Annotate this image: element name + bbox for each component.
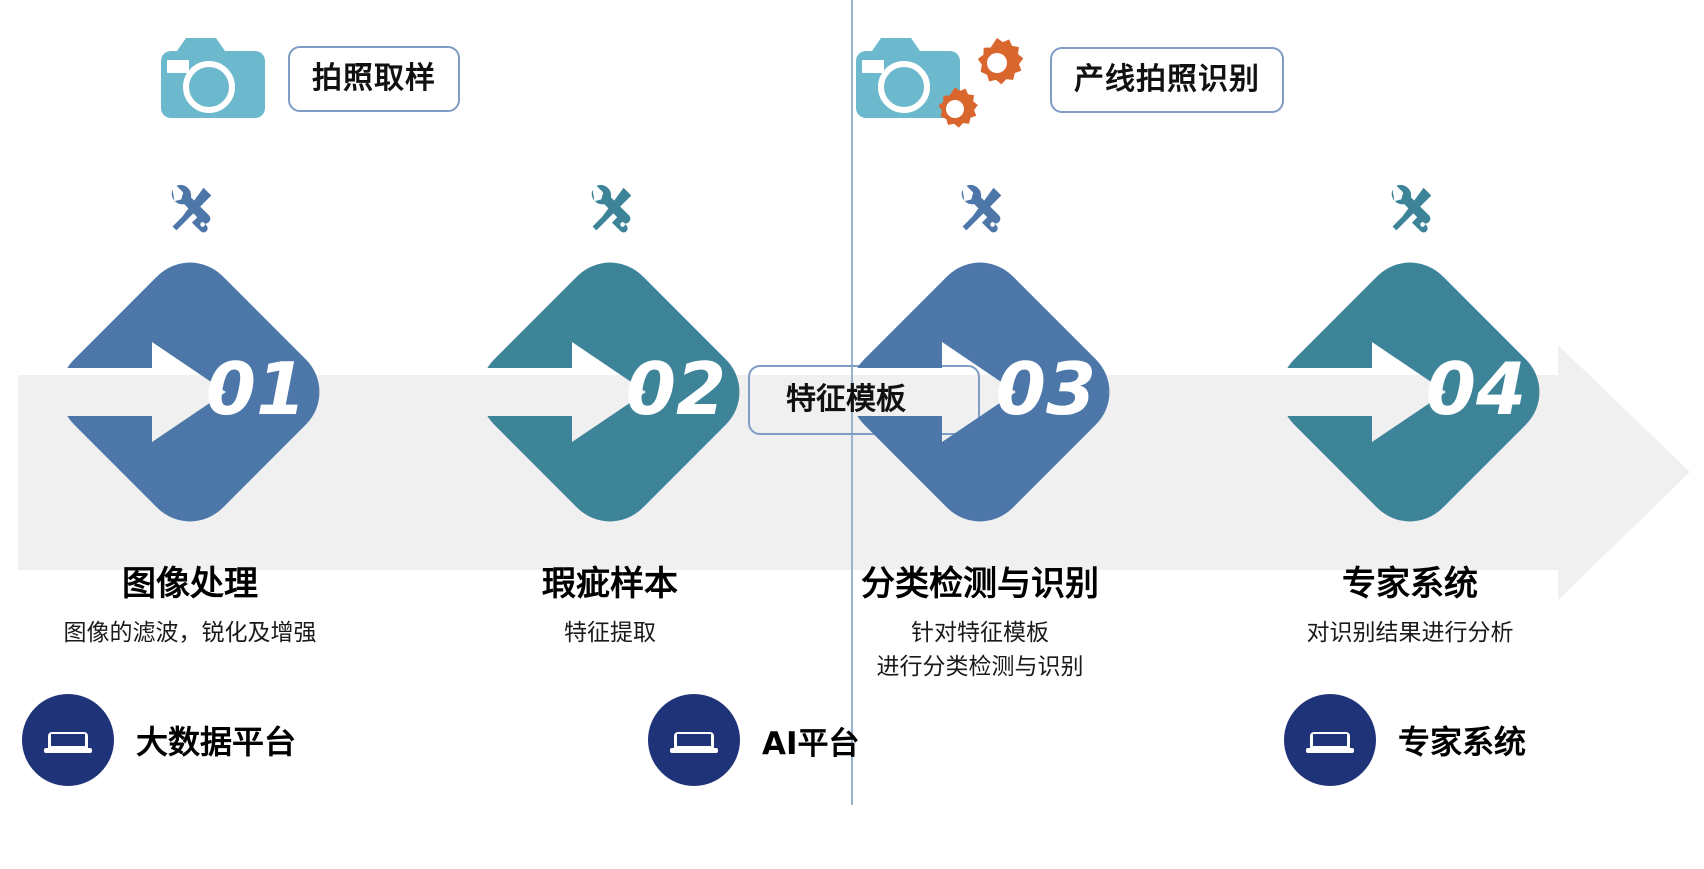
platform-badge-ai[interactable]: AI平台: [648, 694, 860, 786]
step-desc-line: 对识别结果进行分析: [1307, 620, 1514, 646]
step-desc-line: 图像的滤波，锐化及增强: [64, 620, 317, 646]
line-capture-recognition-group[interactable]: 产线拍照识别: [845, 25, 1284, 135]
step-description: 图像的滤波，锐化及增强: [10, 617, 370, 650]
camera-icon: [150, 30, 268, 128]
line-capture-recognition-tag[interactable]: 产线拍照识别: [1050, 47, 1284, 113]
tools-icon: [430, 176, 790, 242]
step-desc-line: 进行分类检测与识别: [800, 651, 1160, 684]
svg-text:01: 01: [206, 347, 306, 431]
diamond-02: 02: [430, 242, 790, 560]
step-title: 专家系统: [1230, 566, 1590, 603]
svg-text:03: 03: [996, 347, 1096, 431]
line-capture-recognition-label: 产线拍照识别: [1074, 65, 1260, 95]
diamond-04: 04: [1230, 242, 1590, 560]
step-desc-line: 针对特征模板: [800, 617, 1160, 650]
step-title: 分类检测与识别: [800, 566, 1160, 603]
step-card-03[interactable]: 03 分类检测与识别 针对特征模板 进行分类检测与识别: [800, 176, 1160, 684]
diamond-03: 03: [800, 242, 1160, 560]
step-title: 图像处理: [10, 566, 370, 603]
platform-icon: [1284, 694, 1376, 786]
infographic-canvas: 01 图像处理 图像的滤波，锐化及增强: [0, 0, 1704, 869]
step-desc-line: 特征提取: [564, 620, 656, 646]
capture-sample-label: 拍照取样: [312, 64, 436, 94]
platform-label: 大数据平台: [136, 717, 296, 763]
step-description: 对识别结果进行分析: [1230, 617, 1590, 650]
tools-icon: [1230, 176, 1590, 242]
tools-icon: [800, 176, 1160, 242]
platform-label: AI平台: [762, 718, 860, 763]
platform-badge-bigdata[interactable]: 大数据平台: [22, 694, 296, 786]
capture-sample-group[interactable]: 拍照取样: [150, 30, 460, 128]
diamond-01: 01: [10, 242, 370, 560]
step-card-01[interactable]: 01 图像处理 图像的滤波，锐化及增强: [10, 176, 370, 651]
capture-sample-tag[interactable]: 拍照取样: [288, 46, 460, 112]
svg-text:02: 02: [626, 347, 726, 431]
svg-text:04: 04: [1426, 347, 1526, 431]
platform-badge-expert[interactable]: 专家系统: [1284, 694, 1526, 786]
step-description: 特征提取: [430, 617, 790, 650]
step-card-02[interactable]: 02 瑕疵样本 特征提取: [430, 176, 790, 651]
tools-icon: [10, 176, 370, 242]
platform-icon: [22, 694, 114, 786]
platform-label: 专家系统: [1398, 717, 1526, 763]
platform-icon: [648, 694, 740, 786]
step-description: 针对特征模板 进行分类检测与识别: [800, 617, 1160, 684]
step-title: 瑕疵样本: [430, 566, 790, 603]
step-card-04[interactable]: 04 专家系统 对识别结果进行分析: [1230, 176, 1590, 651]
camera-gears-icon: [845, 25, 1060, 135]
